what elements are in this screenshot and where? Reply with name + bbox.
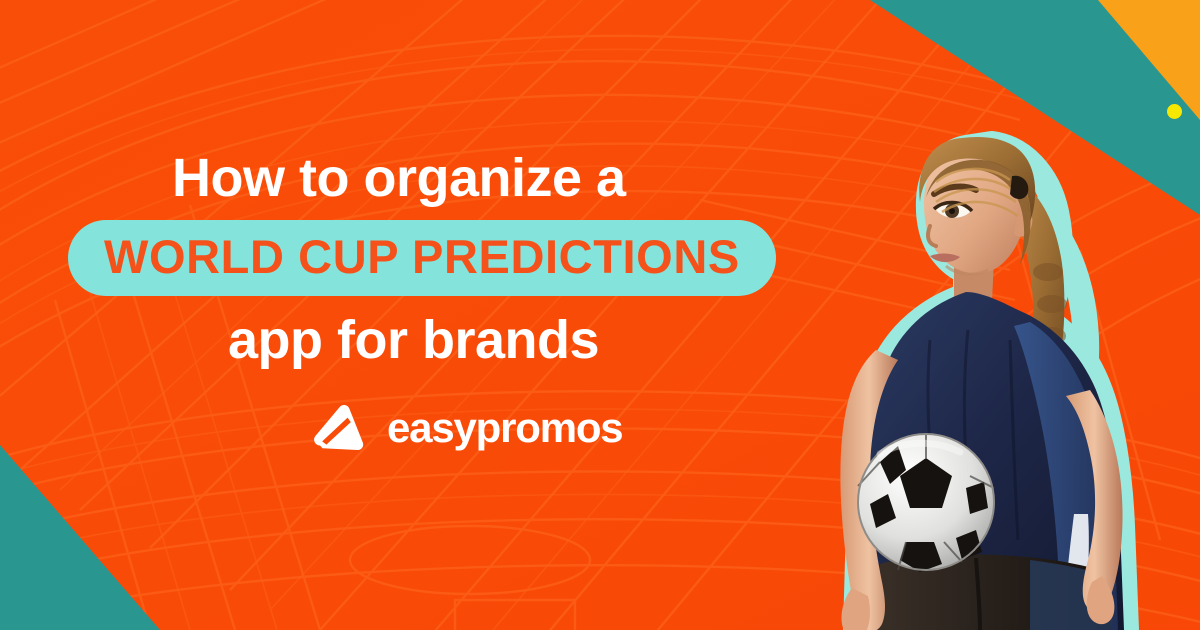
headline-line-2: app for brands bbox=[0, 312, 860, 368]
highlight-pill-row: WORLD CUP PREDICTIONS bbox=[0, 220, 860, 296]
easypromos-wordmark: easypromos bbox=[387, 407, 622, 449]
headline-block: How to organize a WORLD CUP PREDICTIONS … bbox=[0, 150, 860, 368]
teal-diagonal-triangle bbox=[0, 445, 220, 630]
highlight-pill: WORLD CUP PREDICTIONS bbox=[68, 220, 776, 296]
promo-banner: How to organize a WORLD CUP PREDICTIONS … bbox=[0, 0, 1200, 630]
easypromos-triangle-arrow-icon bbox=[313, 404, 375, 452]
headline-line-1: How to organize a bbox=[0, 150, 860, 206]
easypromos-logo[interactable]: easypromos bbox=[313, 404, 622, 452]
